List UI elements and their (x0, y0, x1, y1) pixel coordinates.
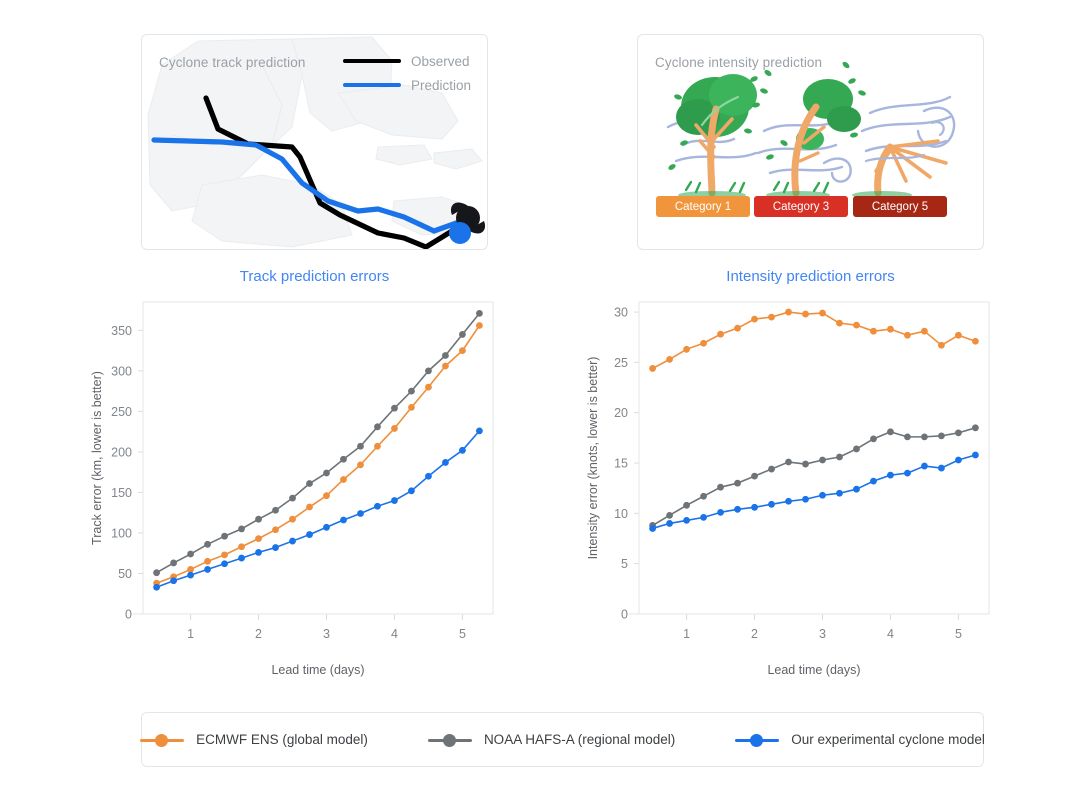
observed-legend-label: Observed (411, 54, 470, 69)
data-point (289, 538, 296, 545)
data-point (921, 433, 928, 440)
data-point (442, 459, 449, 466)
ecmwf-legend-marker (140, 733, 184, 747)
data-point (700, 493, 707, 500)
data-point (476, 427, 483, 434)
data-point (819, 492, 826, 499)
track-card-caption: Cyclone track prediction (159, 55, 305, 70)
data-point (306, 480, 313, 487)
data-point (819, 457, 826, 464)
data-point (700, 340, 707, 347)
ours-legend-marker (735, 733, 779, 747)
data-point (938, 465, 945, 472)
y-tick-label: 30 (614, 306, 628, 320)
data-point (751, 473, 758, 480)
intensity-panel-title: Intensity prediction errors (637, 268, 984, 285)
x-axis-title: Lead time (days) (767, 663, 860, 677)
legend-label-noaa: NOAA HAFS-A (regional model) (484, 732, 675, 747)
data-point (683, 346, 690, 353)
data-point (887, 472, 894, 479)
data-point (717, 331, 724, 338)
cyclone-intensity-prediction-card: Cyclone intensity prediction (637, 34, 984, 250)
data-point (204, 541, 211, 548)
data-point (887, 326, 894, 333)
legend-item-ecmwf: ECMWF ENS (global model) (140, 732, 368, 747)
data-point (802, 311, 809, 318)
data-point (802, 496, 809, 503)
data-point (306, 531, 313, 538)
data-point (459, 447, 466, 454)
data-point (425, 384, 432, 391)
data-point (768, 314, 775, 321)
y-tick-label: 5 (621, 557, 628, 571)
data-point (683, 517, 690, 524)
y-tick-label: 10 (614, 507, 628, 521)
x-tick-label: 2 (751, 627, 758, 641)
data-point (870, 328, 877, 335)
category-badge-1-label: Category 1 (675, 201, 731, 213)
figure-root: Cyclone track prediction Observed Predic… (0, 0, 1080, 806)
data-point (768, 501, 775, 508)
data-point (476, 310, 483, 317)
data-point (221, 551, 228, 558)
intensity-error-chart-svg: 05101520253012345Lead time (days)Intensi… (571, 292, 1001, 682)
x-tick-label: 4 (391, 627, 398, 641)
data-point (904, 433, 911, 440)
data-point (306, 504, 313, 511)
y-tick-label: 0 (125, 608, 132, 622)
category-badge-5: Category 5 (853, 196, 947, 217)
y-tick-label: 0 (621, 608, 628, 622)
data-point (204, 566, 211, 573)
noaa-legend-marker (428, 733, 472, 747)
data-point (649, 525, 656, 532)
y-tick-label: 300 (111, 364, 132, 378)
data-point (357, 443, 364, 450)
data-point (221, 533, 228, 540)
data-point (340, 476, 347, 483)
data-point (870, 478, 877, 485)
data-point (153, 569, 160, 576)
data-point (819, 310, 826, 317)
data-point (666, 520, 673, 527)
data-point (391, 497, 398, 504)
data-point (666, 512, 673, 519)
data-point (717, 484, 724, 491)
category-badge-3: Category 3 (754, 196, 848, 217)
x-tick-label: 3 (323, 627, 330, 641)
data-point (255, 516, 262, 523)
intensity-error-chart: 05101520253012345Lead time (days)Intensi… (571, 292, 1001, 682)
x-tick-label: 3 (819, 627, 826, 641)
data-point (666, 356, 673, 363)
data-point (238, 543, 245, 550)
data-point (904, 470, 911, 477)
data-point (459, 331, 466, 338)
data-point (374, 443, 381, 450)
data-point (221, 560, 228, 567)
data-point (768, 466, 775, 473)
data-point (955, 457, 962, 464)
y-tick-label: 250 (111, 405, 132, 419)
category-badge-3-label: Category 3 (773, 201, 829, 213)
legend-item-noaa: NOAA HAFS-A (regional model) (428, 732, 675, 747)
data-point (836, 454, 843, 461)
data-point (476, 322, 483, 329)
data-point (357, 510, 364, 517)
data-point (357, 461, 364, 468)
data-point (734, 506, 741, 513)
data-point (425, 367, 432, 374)
data-point (717, 509, 724, 516)
data-point (153, 584, 160, 591)
data-point (887, 428, 894, 435)
observed-line-swatch (343, 59, 401, 63)
data-point (408, 388, 415, 395)
data-point (442, 363, 449, 370)
track-error-chart-svg: 05010015020025030035012345Lead time (day… (75, 292, 505, 682)
x-tick-label: 1 (187, 627, 194, 641)
data-point (853, 322, 860, 329)
legend-label-ours: Our experimental cyclone model (791, 732, 985, 747)
data-point (340, 517, 347, 524)
data-point (921, 463, 928, 470)
x-tick-label: 4 (887, 627, 894, 641)
y-tick-label: 100 (111, 526, 132, 540)
prediction-endpoint-dot (449, 222, 471, 244)
data-point (836, 490, 843, 497)
x-tick-label: 1 (683, 627, 690, 641)
data-point (972, 452, 979, 459)
data-point (870, 435, 877, 442)
x-axis-title: Lead time (days) (271, 663, 364, 677)
data-point (340, 456, 347, 463)
data-point (374, 423, 381, 430)
data-point (751, 504, 758, 511)
y-tick-label: 200 (111, 445, 132, 459)
data-point (187, 551, 194, 558)
data-point (170, 577, 177, 584)
prediction-line-swatch (343, 83, 401, 87)
data-point (408, 404, 415, 411)
data-point (238, 555, 245, 562)
data-point (408, 487, 415, 494)
data-point (785, 309, 792, 316)
data-point (683, 502, 690, 509)
data-point (904, 332, 911, 339)
track-error-chart: 05010015020025030035012345Lead time (day… (75, 292, 505, 682)
data-point (955, 332, 962, 339)
x-tick-label: 5 (955, 627, 962, 641)
legend-label-ecmwf: ECMWF ENS (global model) (196, 732, 368, 747)
data-point (289, 516, 296, 523)
track-map-legend: Observed Prediction (343, 49, 471, 97)
y-axis-title: Track error (km, lower is better) (90, 371, 104, 545)
data-point (853, 486, 860, 493)
data-point (442, 352, 449, 359)
data-point (751, 316, 758, 323)
x-tick-label: 2 (255, 627, 262, 641)
data-point (955, 429, 962, 436)
data-point (323, 492, 330, 499)
y-tick-label: 15 (614, 457, 628, 471)
data-point (972, 424, 979, 431)
data-point (785, 459, 792, 466)
data-point (204, 558, 211, 565)
data-point (272, 544, 279, 551)
data-point (459, 347, 466, 354)
category-badge-1: Category 1 (656, 196, 750, 217)
data-point (272, 507, 279, 514)
x-tick-label: 5 (459, 627, 466, 641)
y-axis-title: Intensity error (knots, lower is better) (586, 357, 600, 560)
data-point (187, 572, 194, 579)
y-tick-label: 25 (614, 356, 628, 370)
data-point (972, 338, 979, 345)
data-point (255, 535, 262, 542)
intensity-card-caption: Cyclone intensity prediction (655, 55, 822, 70)
data-point (853, 446, 860, 453)
data-point (734, 480, 741, 487)
data-point (238, 526, 245, 533)
legend-row-observed: Observed (343, 49, 471, 73)
data-point (921, 328, 928, 335)
data-point (374, 503, 381, 510)
data-point (802, 461, 809, 468)
data-point (836, 320, 843, 327)
data-point (289, 495, 296, 502)
legend-row-prediction: Prediction (343, 73, 471, 97)
data-point (734, 325, 741, 332)
series-legend: ECMWF ENS (global model) NOAA HAFS-A (re… (141, 712, 984, 767)
data-point (323, 524, 330, 531)
y-tick-label: 50 (118, 567, 132, 581)
prediction-legend-label: Prediction (411, 78, 471, 93)
data-point (323, 470, 330, 477)
data-point (938, 342, 945, 349)
y-tick-label: 20 (614, 406, 628, 420)
data-point (425, 473, 432, 480)
data-point (255, 549, 262, 556)
cyclone-track-prediction-card: Cyclone track prediction Observed Predic… (141, 34, 488, 250)
tree-category-3-icon (758, 61, 867, 199)
category-badge-5-label: Category 5 (872, 201, 928, 213)
data-point (785, 498, 792, 505)
data-point (391, 425, 398, 432)
data-point (649, 365, 656, 372)
track-panel-title: Track prediction errors (141, 268, 488, 285)
data-point (391, 405, 398, 412)
y-tick-label: 350 (111, 324, 132, 338)
data-point (700, 514, 707, 521)
legend-item-ours: Our experimental cyclone model (735, 732, 985, 747)
data-point (938, 432, 945, 439)
data-point (272, 526, 279, 533)
tree-category-1-icon (667, 69, 772, 199)
y-tick-label: 150 (111, 486, 132, 500)
data-point (170, 560, 177, 567)
tree-category-5-icon (852, 97, 954, 199)
